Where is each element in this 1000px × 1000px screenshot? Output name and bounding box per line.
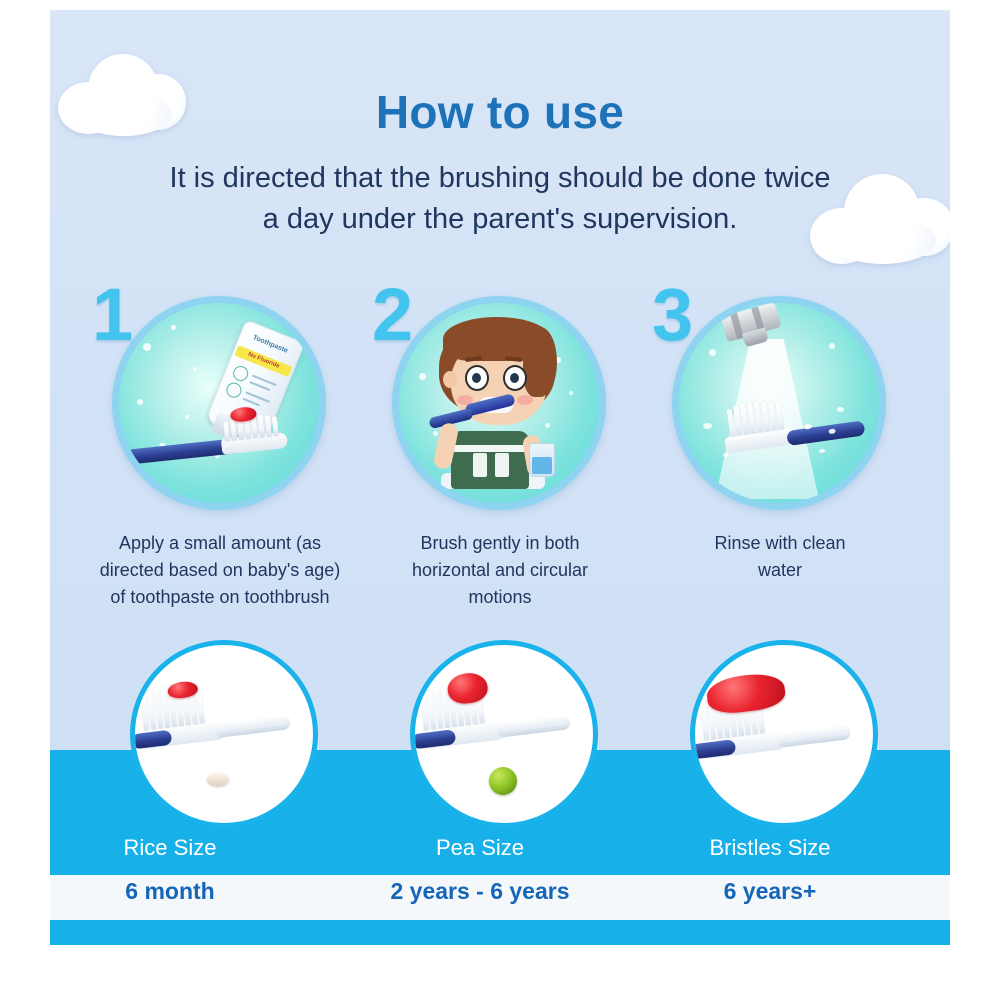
step-1: 1 Toothpaste No Fluor — [70, 282, 370, 682]
toothbrush — [122, 402, 297, 479]
age-label-bristles: 6 years+ — [620, 878, 920, 905]
age-label-pea: 2 years - 6 years — [330, 878, 630, 905]
step-1-illustration: Toothpaste No Fluoride — [112, 296, 326, 510]
subtitle-line-2: a day under the parent's supervision. — [110, 199, 890, 240]
step-1-number: 1 — [92, 278, 133, 352]
step-1-caption: Apply a small amount (as directed based … — [70, 530, 370, 611]
step-2-caption-line-1: Brush gently in both — [350, 530, 650, 557]
step-3-illustration — [672, 296, 886, 510]
age-label-rice: 6 month — [20, 878, 320, 905]
page-title: How to use — [50, 85, 950, 139]
step-3-caption-line-2: water — [630, 557, 930, 584]
size-illustration-pea — [410, 640, 598, 828]
size-label-rice: Rice Size — [20, 835, 320, 861]
step-1-caption-line-2: directed based on baby's age) — [70, 557, 370, 584]
pea-icon — [489, 767, 517, 795]
size-illustration-bristles — [690, 640, 878, 828]
step-3: 3 — [630, 282, 930, 682]
size-label-pea: Pea Size — [330, 835, 630, 861]
subtitle-line-1: It is directed that the brushing should … — [110, 158, 890, 199]
step-2: 2 — [350, 282, 650, 682]
step-2-caption-line-3: motions — [350, 584, 650, 611]
infographic-root: How to use It is directed that the brush… — [0, 0, 1000, 1000]
step-2-caption-line-2: horizontal and circular — [350, 557, 650, 584]
step-1-caption-line-1: Apply a small amount (as — [70, 530, 370, 557]
step-3-number: 3 — [652, 278, 693, 352]
page-subtitle: It is directed that the brushing should … — [110, 158, 890, 240]
step-2-caption: Brush gently in both horizontal and circ… — [350, 530, 650, 611]
step-1-caption-line-3: of toothpaste on toothbrush — [70, 584, 370, 611]
boy-brushing — [399, 303, 589, 493]
toothbrush-rinsing — [704, 386, 870, 460]
step-2-illustration — [392, 296, 606, 510]
steps-row: 1 Toothpaste No Fluor — [50, 282, 950, 462]
step-2-number: 2 — [372, 278, 413, 352]
step-3-caption-line-1: Rinse with clean — [630, 530, 930, 557]
size-illustration-rice — [130, 640, 318, 828]
size-circles-row — [50, 640, 950, 840]
faucet-icon — [721, 302, 782, 342]
step-3-caption: Rinse with clean water — [630, 530, 930, 584]
sky-panel: How to use It is directed that the brush… — [50, 10, 950, 750]
rice-grain-icon — [207, 773, 229, 786]
size-label-bristles: Bristles Size — [620, 835, 920, 861]
